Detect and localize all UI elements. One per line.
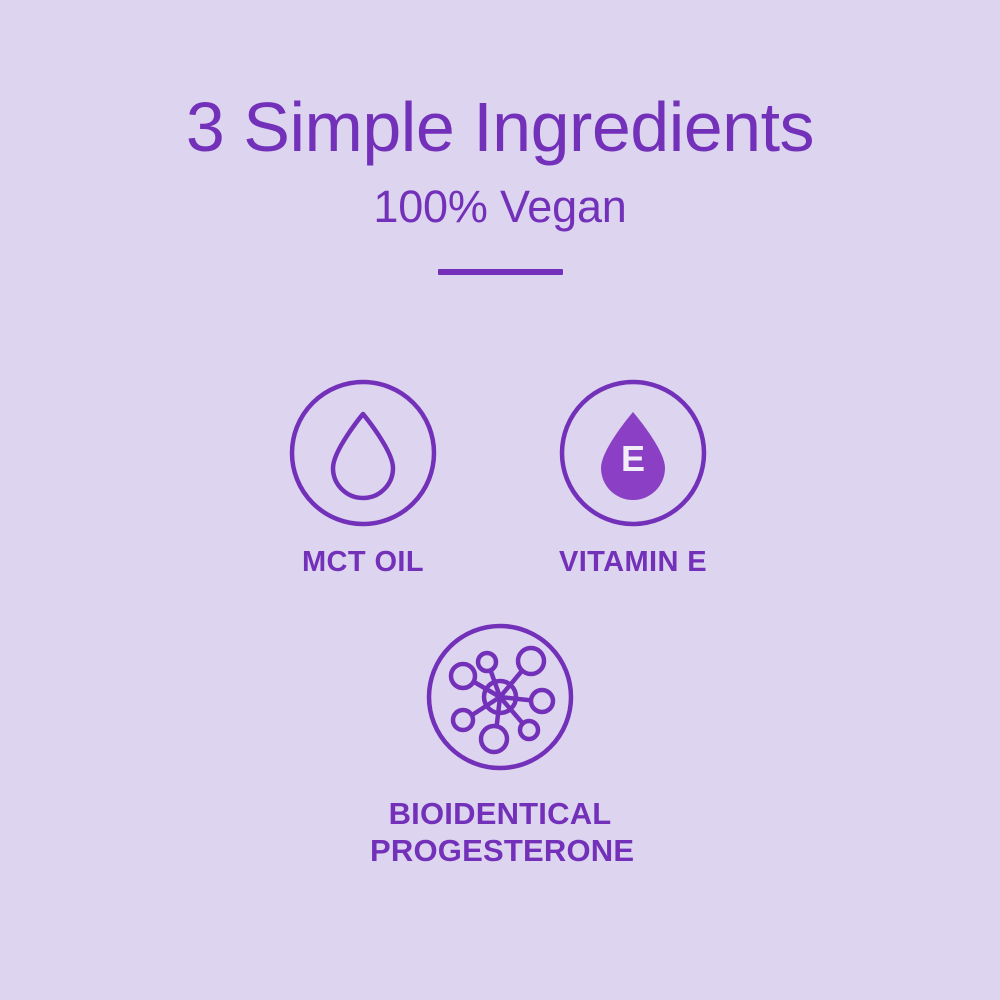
header-block: 3 Simple Ingredients 100% Vegan (0, 92, 1000, 275)
ingredient-bioidentical-progesterone: BIOIDENTICAL PROGESTERONE (370, 622, 630, 869)
ingredient-label: MCT OIL (233, 528, 493, 578)
ingredient-mct-oil: MCT OIL (233, 378, 493, 578)
ingredients-poster: 3 Simple Ingredients 100% Vegan MCT OIL … (0, 0, 1000, 1000)
page-title: 3 Simple Ingredients (0, 92, 1000, 162)
ingredient-vitamin-e: E VITAMIN E (503, 378, 763, 578)
vitamin-e-letter: E (621, 438, 645, 479)
divider-wrap (0, 229, 1000, 275)
droplet-outline-icon (288, 378, 438, 528)
page-subtitle: 100% Vegan (0, 162, 1000, 229)
ingredient-label: BIOIDENTICAL PROGESTERONE (370, 772, 630, 869)
ingredient-label: VITAMIN E (503, 528, 763, 578)
molecule-icon (425, 622, 575, 772)
title-divider (438, 269, 563, 275)
droplet-filled-e-icon: E (558, 378, 708, 528)
